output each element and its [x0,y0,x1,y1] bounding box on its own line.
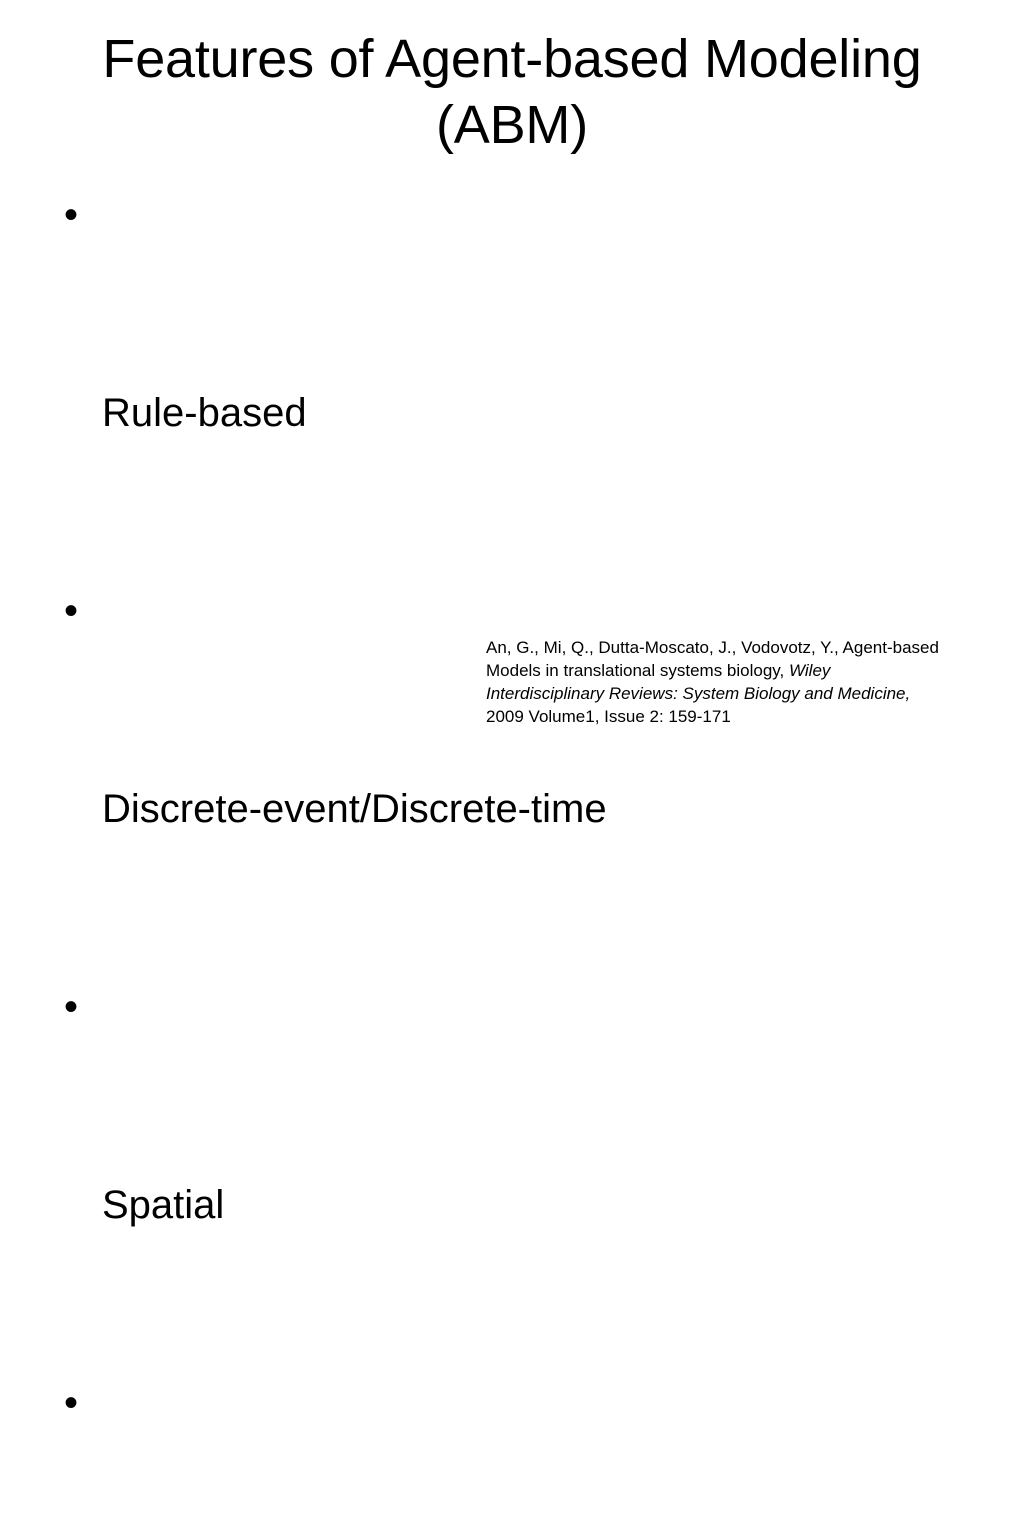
citation-line-1: An, G., Mi, Q., Dutta-Moscato, J., Vodov… [486,636,986,659]
list-item-label: Spatial [102,1172,862,1238]
list-item-label: Discrete-event/Discrete-time [102,776,862,842]
citation-line-2-plain: Models in translational systems biology, [486,661,789,680]
citation-line-2: Models in translational systems biology,… [486,659,986,682]
feature-bullet-list: • Rule-based • Discrete-event/Discrete-t… [56,182,936,1536]
bullet-dot-icon: • [64,182,84,248]
bullet-dot-icon: • [64,974,84,1040]
bullet-dot-icon: • [64,578,84,644]
bullet-dot-icon: • [64,1370,84,1436]
citation-line-4: 2009 Volume1, Issue 2: 159-171 [486,705,986,728]
page-title: Features of Agent-based Modeling (ABM) [60,26,964,158]
list-item-label: Rule-based [102,380,862,446]
citation-line-3-comma: , [906,684,911,703]
citation-journal-name: Interdisciplinary Reviews: System Biolog… [486,684,906,703]
slide-canvas: Features of Agent-based Modeling (ABM) •… [0,0,1024,768]
list-item: • Parallelism [56,1370,936,1536]
citation-line-3: Interdisciplinary Reviews: System Biolog… [486,682,986,705]
list-item: • Spatial [56,974,936,1370]
citation-reference: An, G., Mi, Q., Dutta-Moscato, J., Vodov… [486,636,986,728]
list-item: • Rule-based [56,182,936,578]
citation-journal-start: Wiley [789,661,830,680]
